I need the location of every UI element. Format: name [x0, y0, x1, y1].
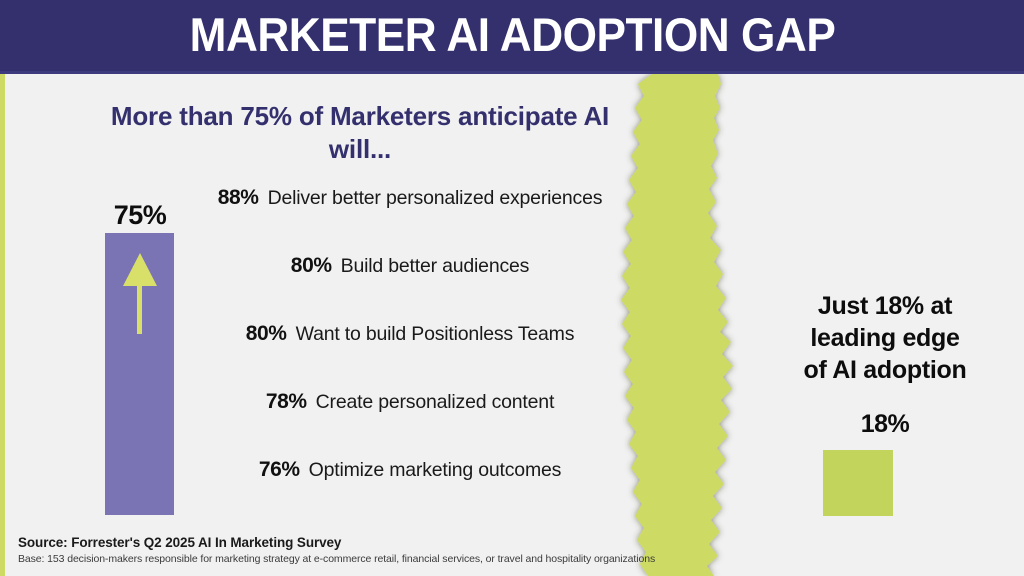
stat-percent: 78% — [266, 390, 307, 414]
list-item: 80% Build better audiences — [200, 254, 620, 322]
stat-list: 88% Deliver better personalized experien… — [200, 186, 620, 526]
stat-percent: 88% — [218, 186, 259, 210]
stat-label: Build better audiences — [341, 255, 530, 278]
stat-label: Deliver better personalized experiences — [268, 187, 603, 210]
header-banner: MARKETER AI ADOPTION GAP — [0, 0, 1024, 74]
right-heading-line-2: leading edge — [760, 322, 1010, 354]
right-panel: Just 18% at leading edge of AI adoption … — [760, 290, 1010, 439]
vertical-bar-75 — [105, 233, 174, 515]
arrow-up-icon — [121, 251, 159, 335]
green-square-18 — [823, 450, 893, 516]
list-item: 88% Deliver better personalized experien… — [200, 186, 620, 254]
stat-percent: 80% — [246, 322, 287, 346]
left-subheading: More than 75% of Marketers anticipate AI… — [110, 100, 610, 167]
infographic-canvas: MARKETER AI ADOPTION GAP More than 75% o… — [0, 0, 1024, 576]
stat-label: Create personalized content — [316, 391, 555, 414]
left-panel: More than 75% of Marketers anticipate AI… — [0, 74, 620, 534]
list-item: 76% Optimize marketing outcomes — [200, 458, 620, 526]
page-title: MARKETER AI ADOPTION GAP — [189, 11, 835, 58]
left-accent-strip — [0, 74, 5, 576]
list-item: 80% Want to build Positionless Teams — [200, 322, 620, 390]
bar-value-label: 75% — [100, 200, 180, 231]
base-line: Base: 153 decision-makers responsible fo… — [18, 553, 968, 566]
source-line: Source: Forrester's Q2 2025 AI In Market… — [18, 535, 968, 551]
right-heading-line-1: Just 18% at — [760, 290, 1010, 322]
square-value-label: 18% — [760, 410, 1010, 439]
list-item: 78% Create personalized content — [200, 390, 620, 458]
stat-percent: 76% — [259, 458, 300, 482]
footer: Source: Forrester's Q2 2025 AI In Market… — [18, 535, 968, 566]
stat-label: Want to build Positionless Teams — [296, 323, 575, 346]
stat-percent: 80% — [291, 254, 332, 278]
right-heading-line-3: of AI adoption — [760, 354, 1010, 386]
stat-label: Optimize marketing outcomes — [309, 459, 562, 482]
